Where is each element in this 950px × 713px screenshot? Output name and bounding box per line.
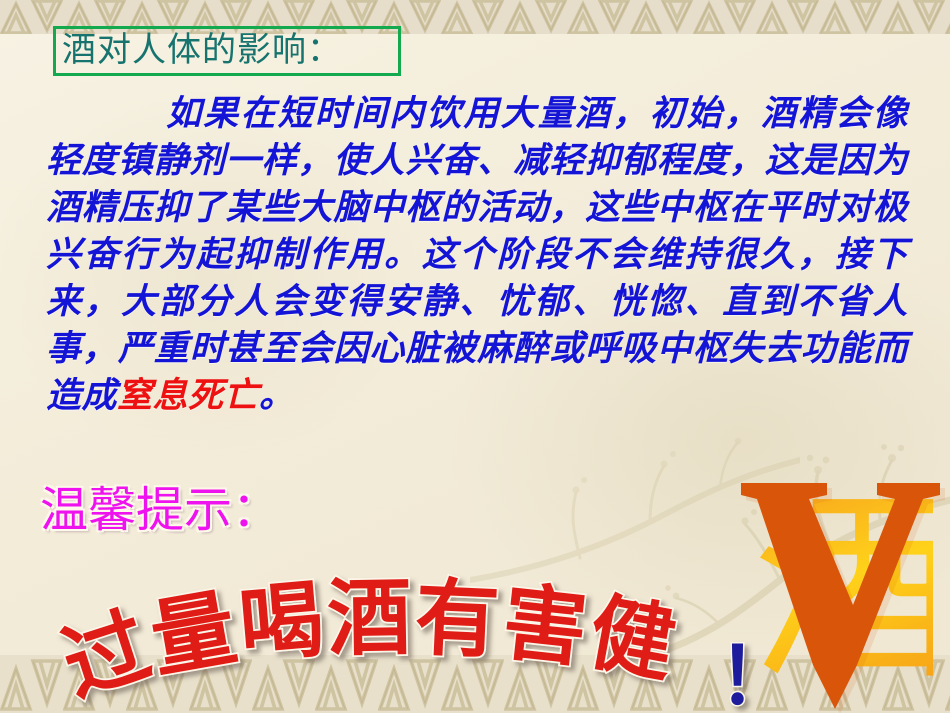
warm-tip-label: 温馨提示：: [40, 482, 280, 538]
no-alcohol-emblem: 酒: [735, 465, 945, 713]
body-text-highlight: 窒息死亡: [117, 375, 259, 416]
body-paragraph: 如果在短时间内饮用大量酒，初始，酒精会像轻度镇静剂一样，使人兴奋、减轻抑郁程度，…: [46, 90, 908, 419]
page-title: 酒对人体的影响：: [62, 27, 402, 75]
slide-canvas: 酒对人体的影响： 如果在短时间内饮用大量酒，初始，酒精会像轻度镇静剂一样，使人兴…: [0, 0, 950, 713]
body-text-part-1: 如果在短时间内饮用大量酒，初始，酒精会像轻度镇静剂一样，使人兴奋、减轻抑郁程度，…: [46, 93, 908, 416]
body-text-part-2: 。: [259, 375, 295, 416]
prohibition-cross-icon: [735, 465, 945, 713]
